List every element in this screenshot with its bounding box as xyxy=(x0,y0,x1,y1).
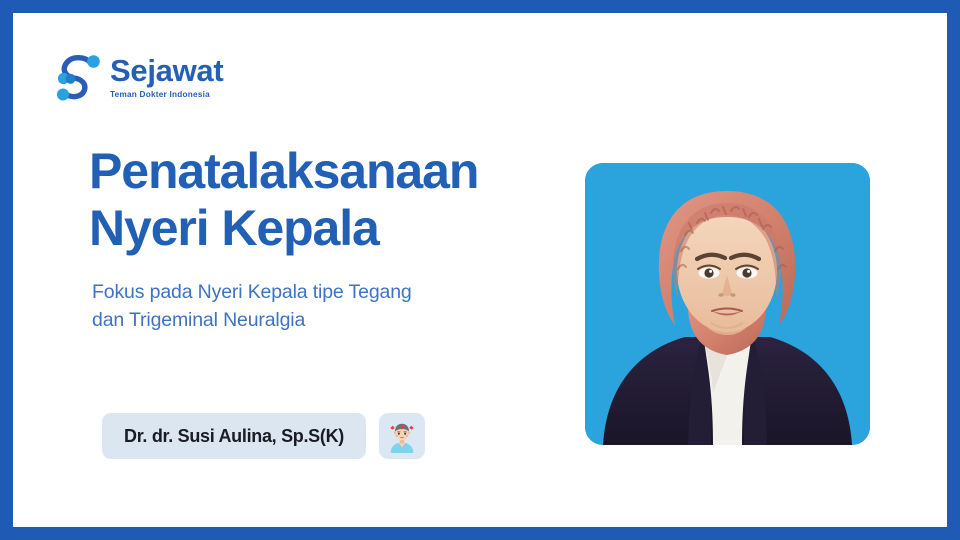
brand-logo[interactable]: Sejawat Teman Dokter Indonesia xyxy=(55,51,223,101)
brand-name: Sejawat xyxy=(110,55,223,86)
slide-frame: Sejawat Teman Dokter Indonesia Penatalak… xyxy=(0,0,960,540)
speaker-portrait-photo xyxy=(585,163,870,445)
brand-tagline: Teman Dokter Indonesia xyxy=(110,91,223,99)
head-with-headache-icon xyxy=(385,419,419,453)
headline-block: Penatalaksanaan Nyeri Kepala Fokus pada … xyxy=(89,143,559,335)
portrait-illustration xyxy=(585,163,870,445)
speaker-credit: Dr. dr. Susi Aulina, Sp.S(K) xyxy=(102,413,425,459)
speaker-name-badge: Dr. dr. Susi Aulina, Sp.S(K) xyxy=(102,413,366,459)
sejawat-s-node-logo-icon xyxy=(55,51,101,101)
page-subtitle: Fokus pada Nyeri Kepala tipe Tegang dan … xyxy=(92,278,559,335)
head-with-headache-emoji xyxy=(379,413,425,459)
speaker-name: Dr. dr. Susi Aulina, Sp.S(K) xyxy=(124,426,344,447)
slide-canvas: Sejawat Teman Dokter Indonesia Penatalak… xyxy=(13,13,947,527)
page-title: Penatalaksanaan Nyeri Kepala xyxy=(89,143,559,256)
brand-text: Sejawat Teman Dokter Indonesia xyxy=(110,53,223,99)
